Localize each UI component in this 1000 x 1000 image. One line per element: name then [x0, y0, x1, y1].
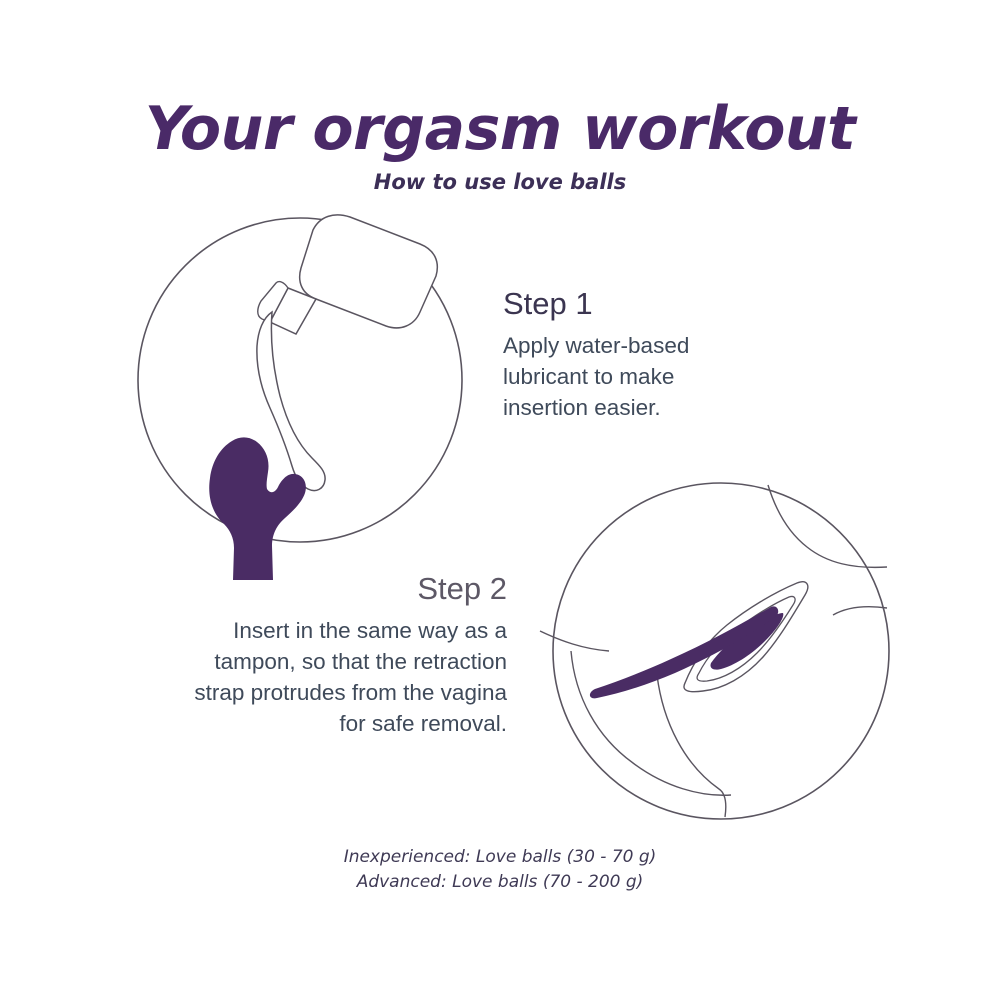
step-2-body: Insert in the same way as a tampon, so t… [95, 615, 507, 739]
footer-note: Inexperienced: Love balls (30 - 70 g) Ad… [0, 845, 1000, 894]
anatomy-contour-upper-right [768, 485, 887, 567]
step-1-heading: Step 1 [503, 286, 803, 322]
page-subtitle: How to use love balls [0, 170, 1000, 194]
footer-line-advanced: Advanced: Love balls (70 - 200 g) [0, 870, 1000, 895]
step-2-block: Step 2 Insert in the same way as a tampo… [95, 571, 507, 739]
page-title: Your orgasm workout [0, 98, 1000, 161]
step-2-heading: Step 2 [95, 571, 507, 607]
anatomy-contour-right [833, 607, 887, 615]
step-1-block: Step 1 Apply water-based lubricant to ma… [503, 286, 803, 423]
infographic-canvas: Your orgasm workout How to use love ball… [0, 0, 1000, 1000]
anatomy-contour-left [540, 631, 609, 651]
insertion-anatomy-illustration [535, 465, 907, 837]
step-1-body: Apply water-based lubricant to make inse… [503, 330, 803, 423]
footer-line-inexperienced: Inexperienced: Love balls (30 - 70 g) [0, 845, 1000, 870]
lubricant-tube-body [300, 215, 438, 328]
lubricant-on-love-ball-illustration [120, 200, 480, 580]
